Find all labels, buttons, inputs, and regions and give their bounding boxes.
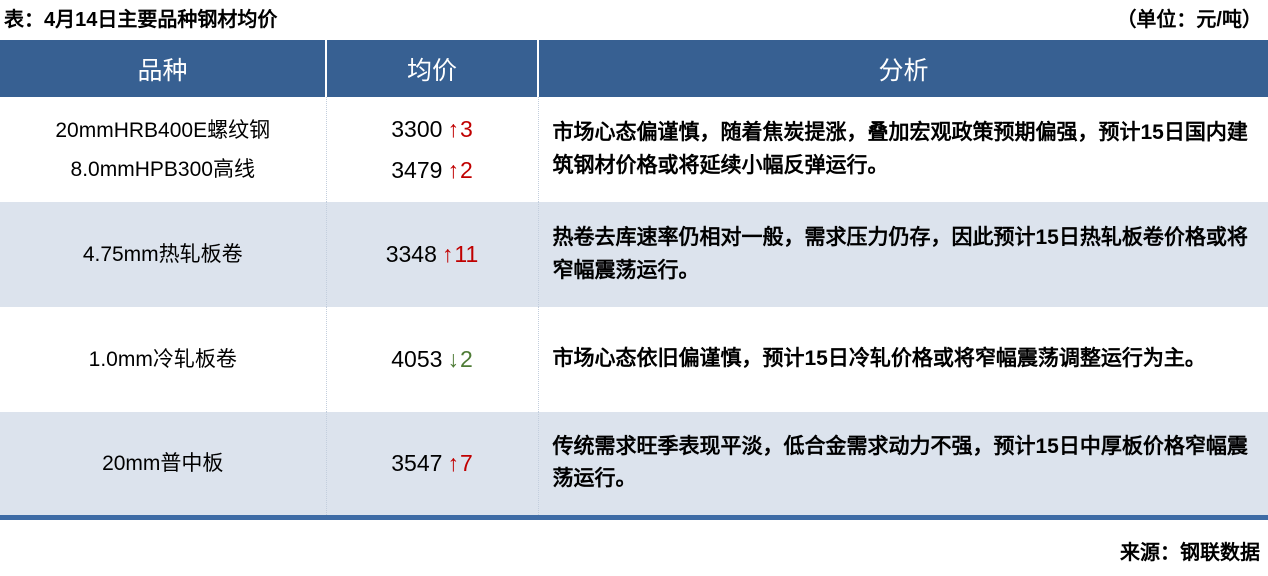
arrow-down-icon: ↓ [442, 346, 460, 372]
cell-variety: 4.75mm热轧板卷 [0, 202, 326, 307]
table-page: 表：4月14日主要品种钢材均价 （单位：元/吨） 品种 均价 分析 20mmHR… [0, 0, 1268, 576]
cell-variety: 20mm普中板 [0, 412, 326, 517]
table-body: 20mmHRB400E螺纹钢8.0mmHPB300高线3300↑33479↑2市… [0, 97, 1268, 517]
variety-label: 1.0mm冷轧板卷 [6, 340, 320, 379]
price-value: 3300 [391, 116, 442, 142]
analysis-text: 市场心态依旧偏谨慎，预计15日冷轧价格或将窄幅震荡调整运行为主。 [539, 343, 1268, 376]
price-delta: 11 [454, 241, 478, 267]
column-header-variety: 品种 [0, 40, 326, 97]
cell-analysis: 传统需求旺季表现平淡，低合金需求动力不强，预计15日中厚板价格窄幅震荡运行。 [538, 412, 1268, 517]
variety-label: 4.75mm热轧板卷 [6, 235, 320, 274]
price-delta: 3 [460, 116, 473, 142]
unit-note: （单位：元/吨） [1116, 10, 1262, 30]
arrow-up-icon: ↑ [442, 450, 460, 476]
variety-label: 20mmHRB400E螺纹钢 [6, 111, 320, 150]
source-label: 来源：钢联数据 [1120, 536, 1260, 565]
price-entry: 3300↑3 [327, 109, 538, 150]
variety-label: 20mm普中板 [6, 444, 320, 483]
column-header-price: 均价 [326, 40, 538, 97]
price-delta: 7 [460, 450, 473, 476]
page-header: 表：4月14日主要品种钢材均价 （单位：元/吨） [0, 0, 1268, 40]
variety-label: 8.0mmHPB300高线 [6, 150, 320, 189]
price-entry: 3479↑2 [327, 150, 538, 191]
analysis-text: 传统需求旺季表现平淡，低合金需求动力不强，预计15日中厚板价格窄幅震荡运行。 [539, 431, 1268, 496]
cell-variety: 20mmHRB400E螺纹钢8.0mmHPB300高线 [0, 97, 326, 202]
arrow-up-icon: ↑ [437, 241, 455, 267]
page-title: 表：4月14日主要品种钢材均价 [4, 10, 277, 30]
analysis-text: 热卷去库速率仍相对一般，需求压力仍存，因此预计15日热轧板卷价格或将窄幅震荡运行… [539, 222, 1268, 287]
arrow-up-icon: ↑ [442, 116, 460, 142]
table-row: 20mmHRB400E螺纹钢8.0mmHPB300高线3300↑33479↑2市… [0, 97, 1268, 202]
table-row: 20mm普中板3547↑7传统需求旺季表现平淡，低合金需求动力不强，预计15日中… [0, 412, 1268, 517]
cell-analysis: 市场心态依旧偏谨慎，预计15日冷轧价格或将窄幅震荡调整运行为主。 [538, 307, 1268, 412]
column-header-analysis: 分析 [538, 40, 1268, 97]
cell-price: 3547↑7 [326, 412, 538, 517]
price-delta: 2 [460, 346, 473, 372]
price-entry: 3348↑11 [327, 234, 538, 275]
price-value: 3547 [391, 450, 442, 476]
arrow-up-icon: ↑ [442, 157, 460, 183]
price-value: 4053 [391, 346, 442, 372]
cell-price: 3348↑11 [326, 202, 538, 307]
cell-analysis: 市场心态偏谨慎，随着焦炭提涨，叠加宏观政策预期偏强，预计15日国内建筑钢材价格或… [538, 97, 1268, 202]
price-entry: 4053↓2 [327, 339, 538, 380]
cell-analysis: 热卷去库速率仍相对一般，需求压力仍存，因此预计15日热轧板卷价格或将窄幅震荡运行… [538, 202, 1268, 307]
table-header-row: 品种 均价 分析 [0, 40, 1268, 97]
cell-price: 3300↑33479↑2 [326, 97, 538, 202]
page-footer: 来源：钢联数据 [0, 525, 1268, 576]
analysis-text: 市场心态偏谨慎，随着焦炭提涨，叠加宏观政策预期偏强，预计15日国内建筑钢材价格或… [539, 117, 1268, 182]
steel-price-table: 品种 均价 分析 20mmHRB400E螺纹钢8.0mmHPB300高线3300… [0, 40, 1268, 520]
cell-variety: 1.0mm冷轧板卷 [0, 307, 326, 412]
table-row: 4.75mm热轧板卷3348↑11热卷去库速率仍相对一般，需求压力仍存，因此预计… [0, 202, 1268, 307]
cell-price: 4053↓2 [326, 307, 538, 412]
price-value: 3479 [391, 157, 442, 183]
price-value: 3348 [386, 241, 437, 267]
price-entry: 3547↑7 [327, 443, 538, 484]
table-header: 品种 均价 分析 [0, 40, 1268, 97]
price-delta: 2 [460, 157, 473, 183]
table-row: 1.0mm冷轧板卷4053↓2市场心态依旧偏谨慎，预计15日冷轧价格或将窄幅震荡… [0, 307, 1268, 412]
